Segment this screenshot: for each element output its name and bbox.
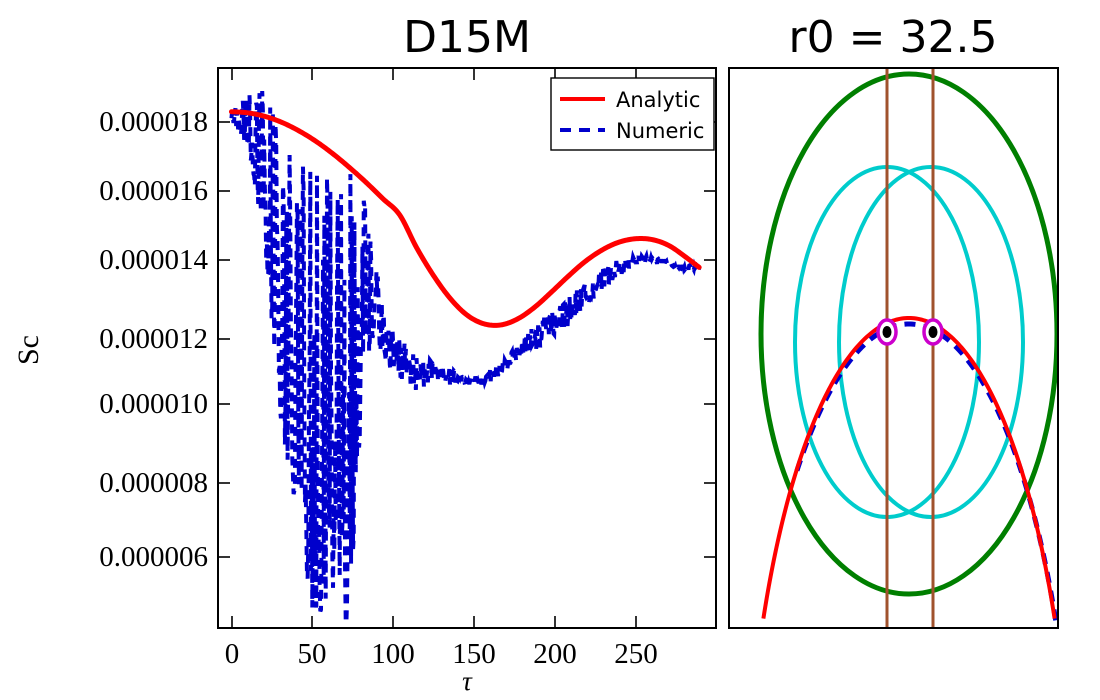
x-ticklabel: 0: [225, 638, 240, 670]
left-panel-ylabel: Sc: [12, 335, 45, 365]
right-panel-data: [761, 69, 1057, 627]
numeric-trajectory-line: [797, 324, 1056, 625]
analytic-trajectory-line: [763, 318, 1054, 619]
x-ticklabel: 250: [614, 638, 658, 670]
figure-canvas: D15M 0.000018 0.000016 0.000014 0.000012…: [0, 0, 1100, 700]
y-ticklabel: 0.000014: [99, 244, 208, 276]
left-panel-y-ticklabels: 0.000018 0.000016 0.000014 0.000012 0.00…: [99, 106, 208, 573]
legend[interactable]: Analytic Numeric: [551, 78, 714, 150]
x-ticklabel: 200: [533, 638, 577, 670]
x-ticklabel: 100: [371, 638, 415, 670]
focus-marker-left: [878, 320, 896, 344]
x-ticklabel: 50: [298, 638, 327, 670]
left-panel-data: [231, 91, 699, 623]
legend-label-analytic: Analytic: [616, 88, 700, 112]
left-panel-x-ticklabels: 0 50 100 150 200 250: [225, 638, 658, 670]
x-ticklabel: 150: [452, 638, 496, 670]
y-ticklabel: 0.000018: [99, 106, 208, 138]
focus-dot-left-icon: [883, 326, 892, 338]
y-ticklabel: 0.000008: [99, 467, 208, 499]
left-panel-title: D15M: [403, 12, 531, 63]
right-panel: r0 = 32.5: [729, 12, 1058, 628]
matplotlib-figure: D15M 0.000018 0.000016 0.000014 0.000012…: [0, 0, 1100, 700]
y-ticklabel: 0.000010: [99, 388, 208, 420]
y-ticklabel: 0.000006: [99, 541, 208, 573]
y-ticklabel: 0.000012: [99, 323, 208, 355]
right-panel-title: r0 = 32.5: [789, 12, 998, 63]
focus-marker-right: [924, 320, 942, 344]
legend-label-numeric: Numeric: [616, 119, 704, 143]
left-panel-xlabel: τ: [462, 666, 473, 696]
focus-dot-right-icon: [929, 326, 938, 338]
left-panel: D15M 0.000018 0.000016 0.000014 0.000012…: [12, 12, 716, 696]
numeric-series-line: [231, 91, 699, 623]
y-ticklabel: 0.000016: [99, 175, 208, 207]
outer-orbit-ellipse-icon: [761, 74, 1057, 594]
